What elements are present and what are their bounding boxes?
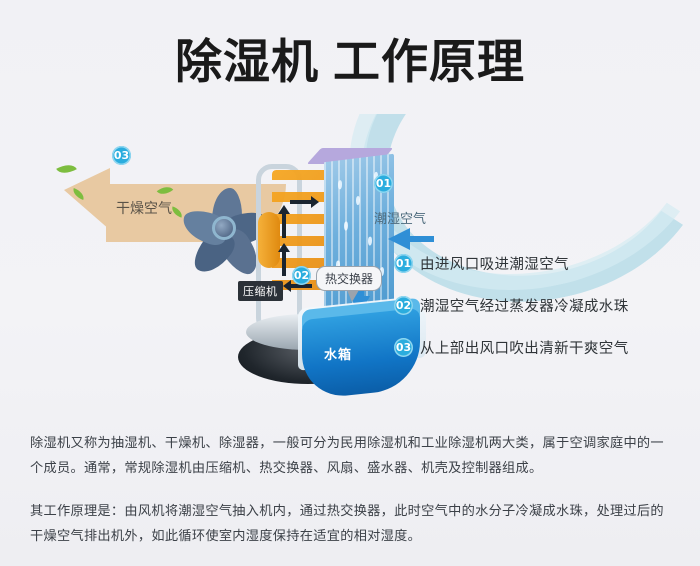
intake-arrow-icon <box>388 228 410 250</box>
accumulator-cylinder-icon <box>258 212 280 268</box>
dry-air-label: 干燥空气 <box>116 198 172 218</box>
heat-exchanger-badge: 02 <box>292 266 311 285</box>
humid-air-badge: 01 <box>374 174 393 193</box>
legend-item-01: 01 由进风口吸进潮湿空气 <box>394 252 684 274</box>
dry-air-badge: 03 <box>112 146 131 165</box>
heat-exchanger-callout: 热交换器 <box>316 266 382 291</box>
legend-badge-03: 03 <box>394 338 413 357</box>
intake-arrow-tail <box>408 236 434 242</box>
page-title: 除湿机工作原理 <box>0 34 700 92</box>
dry-air-tag: 03 干燥空气 <box>112 146 131 165</box>
legend-text-01: 由进风口吸进潮湿空气 <box>420 253 569 274</box>
legend-item-02: 02 潮湿空气经过蒸发器冷凝成水珠 <box>394 294 684 316</box>
legend-text-03: 从上部出风口吹出清新干爽空气 <box>420 337 629 358</box>
legend-text-02: 潮湿空气经过蒸发器冷凝成水珠 <box>420 295 629 316</box>
paragraph-1: 除湿机又称为抽湿机、干燥机、除湿器，一般可分为民用除湿机和工业除湿机两大类，属于… <box>30 431 675 481</box>
humid-air-tag: 01 潮湿空气 <box>374 174 393 193</box>
heat-exchanger-callout-label: 热交换器 <box>325 272 373 286</box>
compressor-label: 压缩机 <box>238 281 283 301</box>
title-part-2: 工作原理 <box>333 35 525 90</box>
legend-badge-01: 01 <box>394 254 413 273</box>
legend-badge-02: 02 <box>394 296 413 315</box>
refrigerant-flow-arrow-icon <box>282 252 286 276</box>
refrigerant-flow-arrow-icon <box>282 214 286 238</box>
body-copy: 除湿机又称为抽湿机、干燥机、除湿器，一般可分为民用除湿机和工业除湿机两大类，属于… <box>30 418 675 562</box>
humid-air-label: 潮湿空气 <box>374 208 426 227</box>
infographic-page: 除湿机工作原理 <box>0 0 700 566</box>
legend-item-03: 03 从上部出风口吹出清新干爽空气 <box>394 336 684 358</box>
legend-list: 01 由进风口吸进潮湿空气 02 潮湿空气经过蒸发器冷凝成水珠 03 从上部出风… <box>394 252 684 378</box>
heat-exchanger-tag: 02 <box>292 266 311 285</box>
title-part-1: 除湿机 <box>175 35 319 90</box>
water-tank-label: 水箱 <box>324 344 352 363</box>
refrigerant-flow-arrow-icon <box>290 200 312 204</box>
paragraph-2: 其工作原理是：由风机将潮湿空气抽入机内，通过热交换器，此时空气中的水分子冷凝成水… <box>30 499 675 549</box>
